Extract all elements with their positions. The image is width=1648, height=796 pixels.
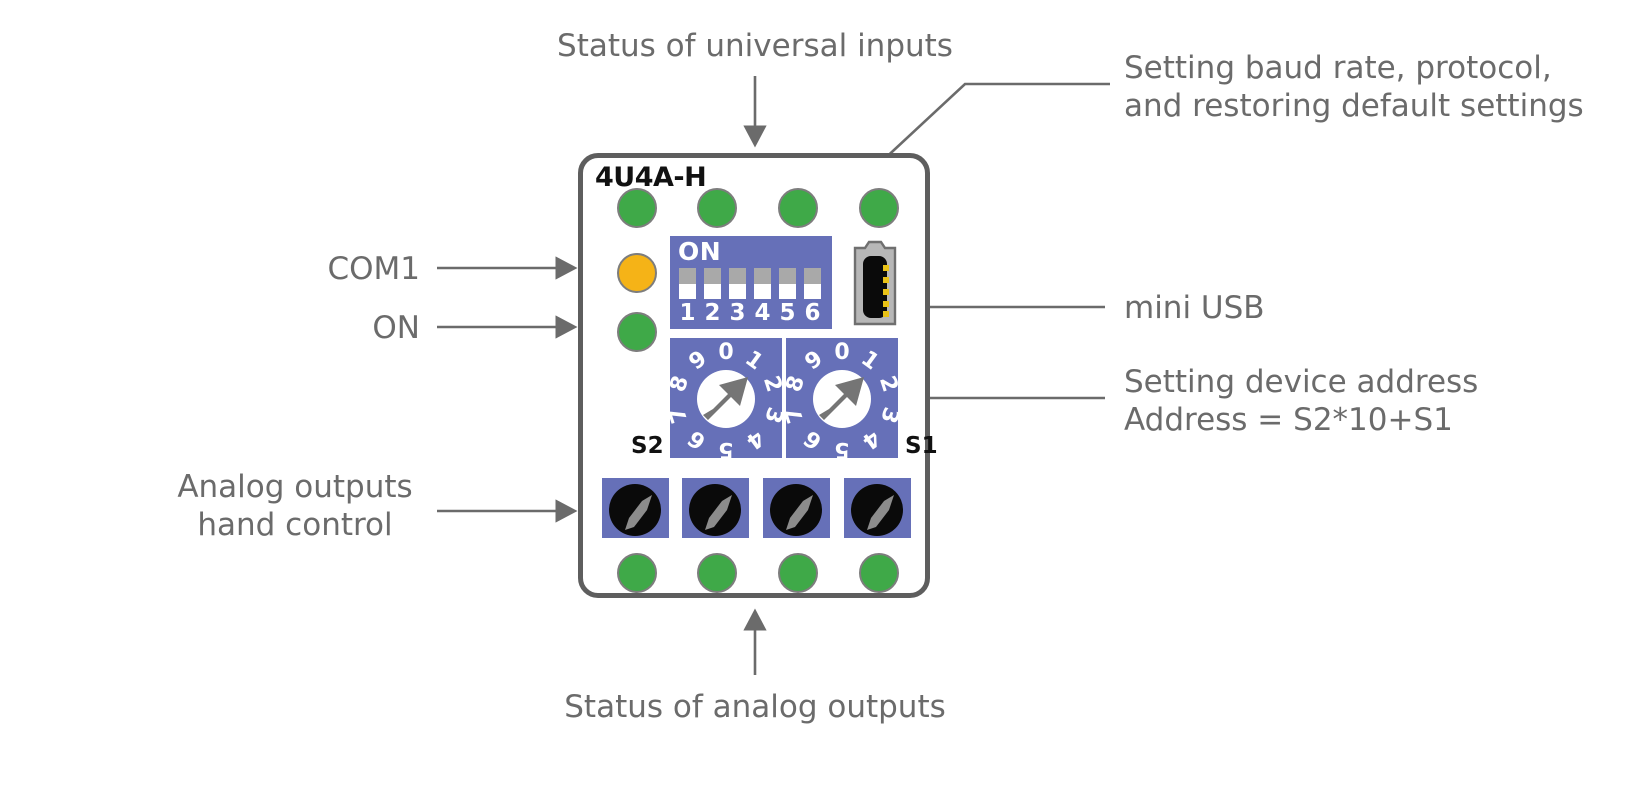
annotation-on: ON [180,309,420,347]
dip-switch-number-5: 5 [779,300,796,326]
mini-usb-icon [851,238,899,328]
svg-text:2: 2 [758,373,782,395]
dip-switch-2-lever [704,284,721,299]
svg-text:2: 2 [874,373,898,395]
svg-text:6: 6 [684,425,711,454]
dip-switch-5[interactable] [779,268,796,299]
led-universal-input-2 [697,188,737,228]
mini-usb-port[interactable] [851,238,899,328]
hand-control-pot-4[interactable] [844,478,911,538]
annotation-device-address-line2: Address = S2*10+S1 [1124,401,1604,439]
annotation-analog-hand-control-line2: hand control [170,506,420,544]
trimmer-pot-2-icon [682,478,749,538]
led-com1 [617,253,657,293]
svg-text:4: 4 [741,425,768,454]
rotary-dial-s1-icon: 0 1 2 3 4 5 6 7 8 9 [786,338,898,458]
rotary-switch-s1[interactable]: 0 1 2 3 4 5 6 7 8 9 [786,338,898,458]
dip-switch-5-lever [779,284,796,299]
svg-text:0: 0 [718,340,733,365]
annotation-device-address-line1: Setting device address [1124,363,1604,401]
led-analog-output-3 [778,553,818,593]
rotary-switch-s1-label: S1 [905,433,938,459]
svg-text:5: 5 [834,437,849,458]
dip-switch-number-6: 6 [804,300,821,326]
dip-on-label: ON [678,237,721,266]
dip-switch-number-2: 2 [704,300,721,326]
svg-text:5: 5 [718,437,733,458]
svg-text:8: 8 [670,373,694,395]
dip-switch-number-1: 1 [679,300,696,326]
dip-switch-4[interactable] [754,268,771,299]
svg-text:3: 3 [759,404,782,426]
trimmer-pot-3-icon [763,478,830,538]
dip-switch-6[interactable] [804,268,821,299]
svg-text:1: 1 [856,346,883,375]
led-universal-input-4 [859,188,899,228]
dip-switch-number-3: 3 [729,300,746,326]
annotation-analog-hand-control-line1: Analog outputs [170,468,420,506]
svg-text:9: 9 [685,346,712,375]
device-model-label: 4U4A-H [595,162,706,193]
led-universal-input-3 [778,188,818,228]
led-analog-output-1 [617,553,657,593]
dip-switch-bank[interactable]: ON 1 2 3 4 5 6 [670,236,832,329]
dip-switch-3[interactable] [729,268,746,299]
svg-text:9: 9 [801,346,828,375]
led-analog-output-4 [859,553,899,593]
dip-switch-3-lever [729,284,746,299]
diagram-canvas: Status of universal inputs Setting baud … [0,0,1648,796]
svg-text:7: 7 [670,404,693,426]
dip-switch-6-lever [804,284,821,299]
rotary-switch-s2-label: S2 [631,433,664,459]
annotation-mini-usb: mini USB [1124,289,1574,327]
hand-control-pot-3[interactable] [763,478,830,538]
annotation-bottom-analog-outputs: Status of analog outputs [505,688,1005,726]
annotation-baud-rate-line1: Setting baud rate, protocol, [1124,49,1644,87]
dip-switch-1[interactable] [679,268,696,299]
annotation-com1: COM1 [180,250,420,288]
svg-text:4: 4 [857,425,884,454]
svg-text:0: 0 [834,340,849,365]
rotary-switch-s2[interactable]: 0 1 2 3 4 5 6 7 8 9 [670,338,782,458]
dip-switch-4-lever [754,284,771,299]
dip-switch-2[interactable] [704,268,721,299]
annotation-baud-rate-line2: and restoring default settings [1124,87,1644,125]
device-body: 4U4A-H ON 1 2 3 4 5 6 [578,153,930,598]
led-power-on [617,312,657,352]
trimmer-pot-1-icon [602,478,669,538]
rotary-dial-s2-icon: 0 1 2 3 4 5 6 7 8 9 [670,338,782,458]
trimmer-pot-4-icon [844,478,911,538]
svg-text:7: 7 [786,404,809,426]
svg-text:8: 8 [786,373,810,395]
svg-text:3: 3 [875,404,898,426]
hand-control-pot-2[interactable] [682,478,749,538]
dip-switch-1-lever [679,284,696,299]
svg-text:6: 6 [800,425,827,454]
hand-control-pot-1[interactable] [602,478,669,538]
led-universal-input-1 [617,188,657,228]
annotation-top-universal-inputs: Status of universal inputs [505,27,1005,65]
dip-switch-number-4: 4 [754,300,771,326]
led-analog-output-2 [697,553,737,593]
svg-text:1: 1 [740,346,767,375]
